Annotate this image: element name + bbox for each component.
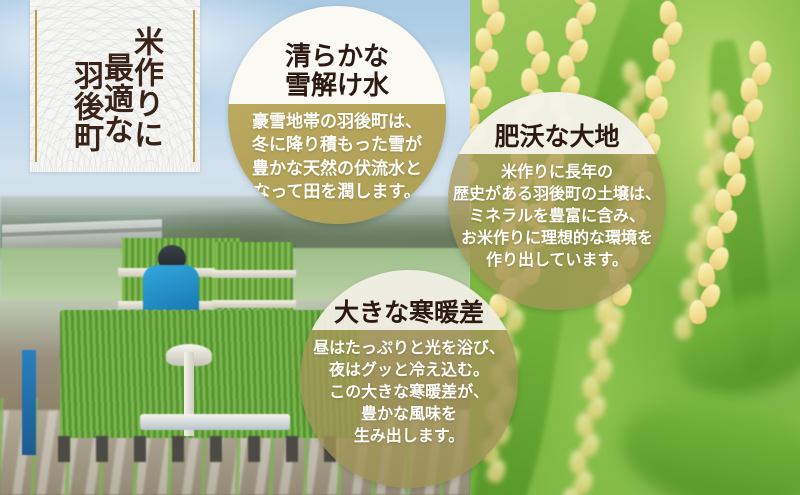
title-column-2: 最適な xyxy=(100,12,130,162)
callout-bubble-soil[interactable]: 肥沃な大地 米作りに長年の 歴史がある羽後町の土壌は、 ミネラルを豊富に含み、 … xyxy=(448,92,666,310)
bubble-body-line: 夜はグッと冷え込む。 xyxy=(329,359,489,381)
poster-canvas: 米作りに 最適な 羽後町 清らかな 雪解け水 豪雪地帯の羽後町は、 冬に降り積も… xyxy=(0,0,800,495)
bubble-body-line: お米作りに理想的な環境を xyxy=(461,227,653,249)
bubble-title-line: 大きな寒暖差 xyxy=(334,299,484,327)
machine-crossbar xyxy=(140,414,290,430)
bubble-body-line: 作り出しています。 xyxy=(486,249,628,271)
title-column-1: 米作りに xyxy=(130,12,160,162)
bubble-body-line: 米作りに長年の xyxy=(501,161,613,183)
bubble-body-line: 歴史がある羽後町の土壌は、 xyxy=(453,183,661,205)
bubble-body-line: 生み出します。 xyxy=(354,425,464,447)
title-column-3: 羽後町 xyxy=(70,12,100,162)
vertical-title-panel: 米作りに 最適な 羽後町 xyxy=(30,0,200,172)
bubble-body-line: 豊かな風味を xyxy=(361,403,457,425)
bubble-body-line: 豊かな天然の伏流水と xyxy=(252,158,422,181)
bubble-body-line: この大きな寒暖差が、 xyxy=(329,381,489,403)
callout-bubble-meltwater[interactable]: 清らかな 雪解け水 豪雪地帯の羽後町は、 冬に降り積もった雪が 豊かな天然の伏流… xyxy=(228,6,446,224)
seedling-tray-right xyxy=(215,242,293,314)
rice-leaf xyxy=(612,383,800,495)
bubble-title-line: 清らかな xyxy=(285,43,389,72)
bubble-title-line: 肥沃な大地 xyxy=(494,123,619,151)
bubble-body-line: 豪雪地帯の羽後町は、 xyxy=(252,111,422,134)
transplanter-wheels xyxy=(58,436,358,462)
bubble-body-line: 冬に降り積もった雪が xyxy=(252,134,422,157)
bubble-title-line: 雪解け水 xyxy=(285,72,389,101)
bubble-body-line: なって田を潤します。 xyxy=(253,181,420,204)
machine-side-frame xyxy=(22,350,36,455)
vertical-title-text: 米作りに 最適な 羽後町 xyxy=(42,12,188,162)
bubble-body-line: 昼はたっぷりと光を浴び、 xyxy=(313,337,505,359)
bubble-body-line: ミネラルを豊富に含み、 xyxy=(469,205,645,227)
callout-bubble-temperature-range[interactable]: 大きな寒暖差 昼はたっぷりと光を浴び、 夜はグッと冷え込む。 この大きな寒暖差が… xyxy=(300,270,518,488)
